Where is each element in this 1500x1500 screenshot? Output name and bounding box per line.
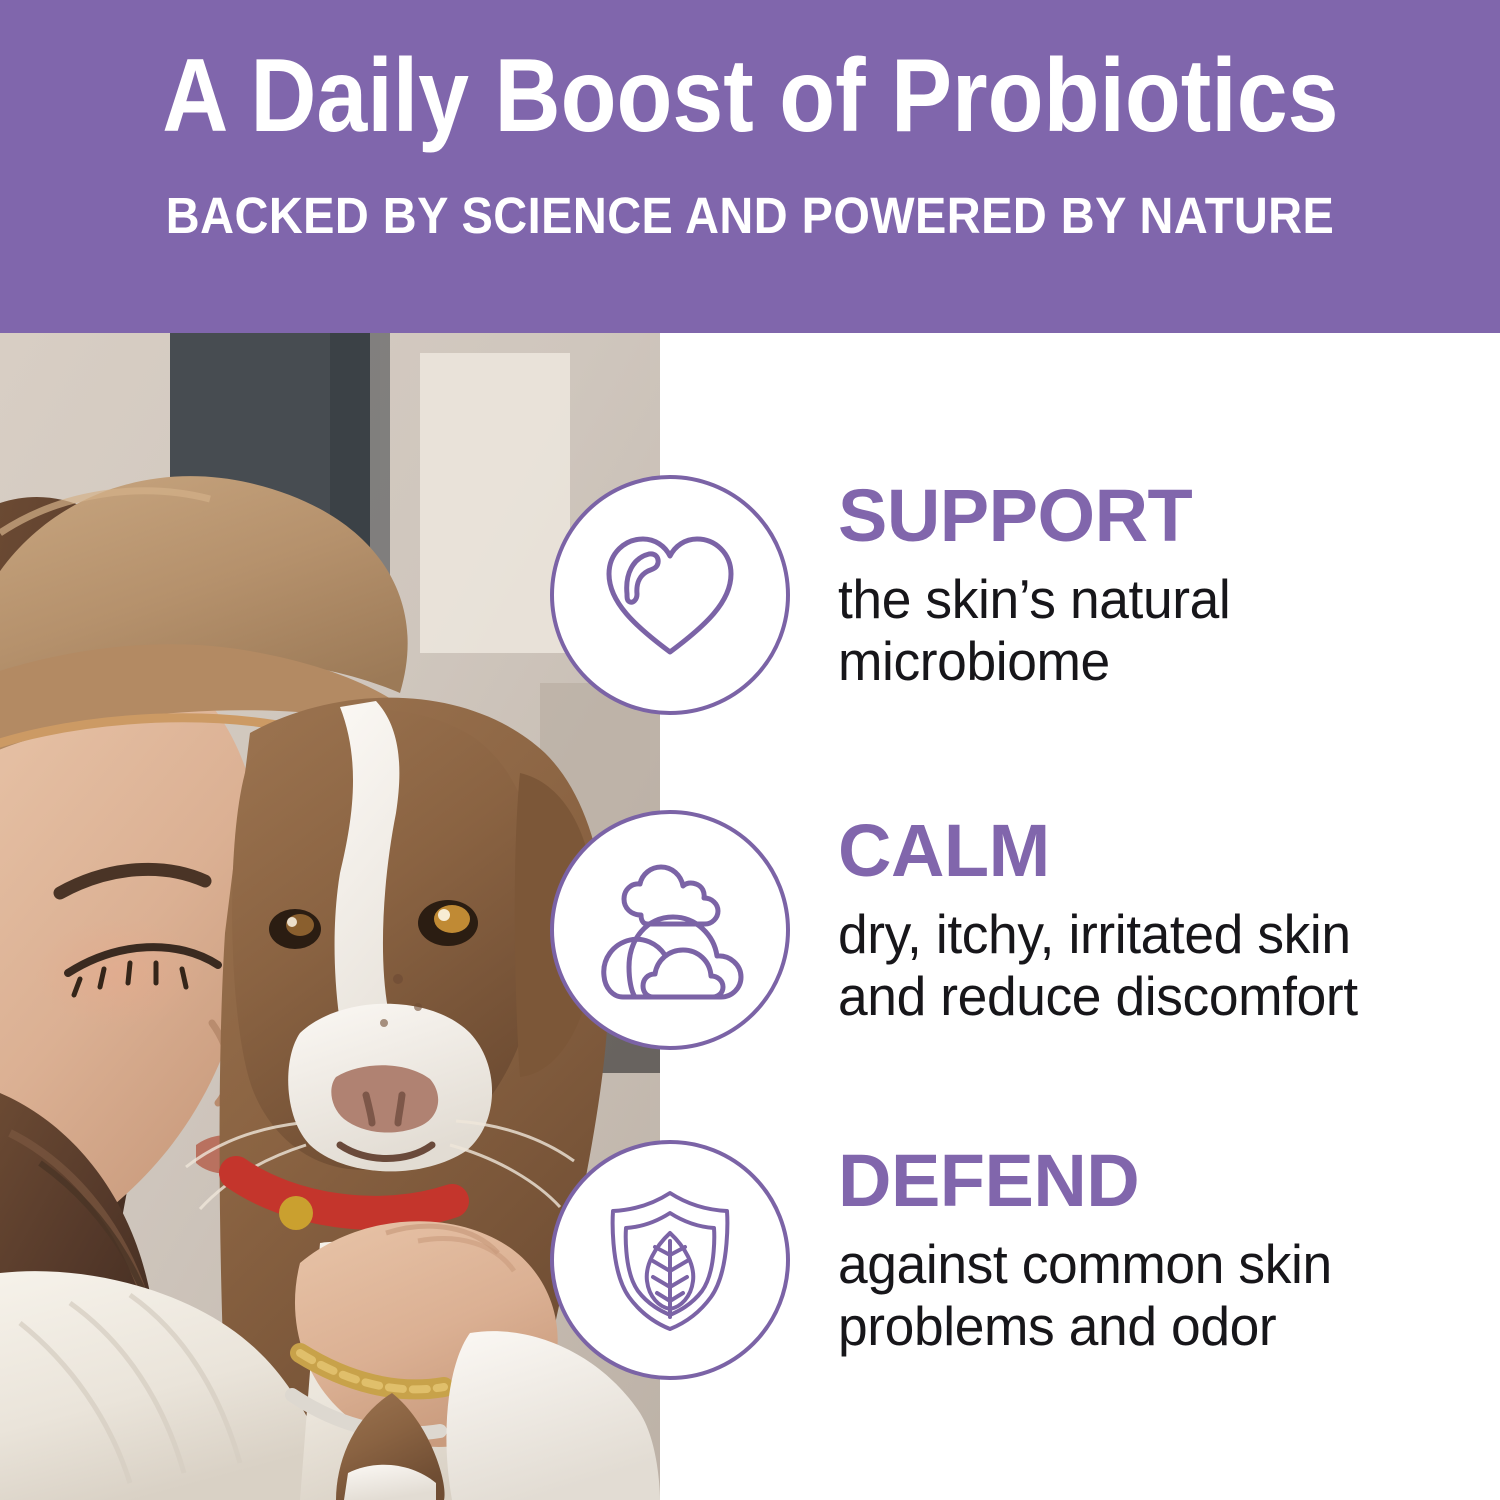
benefit-body-line: and reduce discomfort	[838, 966, 1459, 1028]
benefit-row-defend: DEFEND against common skin problems and …	[0, 1140, 1500, 1380]
benefit-body-line: microbiome	[838, 631, 1459, 693]
header-banner: A Daily Boost of Probiotics BACKED BY SC…	[0, 0, 1500, 333]
benefit-body-line: the skin’s natural	[838, 569, 1459, 631]
benefit-heading: CALM	[838, 816, 1478, 886]
page-subtitle: BACKED BY SCIENCE AND POWERED BY NATURE	[166, 190, 1334, 241]
shield-leaf-icon	[550, 1140, 790, 1380]
benefit-body-line: dry, itchy, irritated skin	[838, 904, 1459, 966]
page-title: A Daily Boost of Probiotics	[162, 44, 1338, 148]
benefit-text-calm: CALM dry, itchy, irritated skin and redu…	[838, 816, 1478, 1027]
benefit-row-support: SUPPORT the skin’s natural microbiome	[0, 475, 1500, 715]
benefit-row-calm: CALM dry, itchy, irritated skin and redu…	[0, 810, 1500, 1050]
benefit-body: dry, itchy, irritated skin and reduce di…	[838, 904, 1459, 1027]
benefit-text-defend: DEFEND against common skin problems and …	[838, 1146, 1478, 1357]
benefit-body-line: against common skin	[838, 1234, 1459, 1296]
benefit-body: against common skin problems and odor	[838, 1234, 1459, 1357]
promo-poster: A Daily Boost of Probiotics BACKED BY SC…	[0, 0, 1500, 1500]
benefit-body: the skin’s natural microbiome	[838, 569, 1459, 692]
benefit-text-support: SUPPORT the skin’s natural microbiome	[838, 481, 1478, 692]
heart-icon	[550, 475, 790, 715]
benefit-body-line: problems and odor	[838, 1296, 1459, 1358]
benefit-heading: SUPPORT	[838, 481, 1478, 551]
clouds-icon	[550, 810, 790, 1050]
benefit-heading: DEFEND	[838, 1146, 1478, 1216]
